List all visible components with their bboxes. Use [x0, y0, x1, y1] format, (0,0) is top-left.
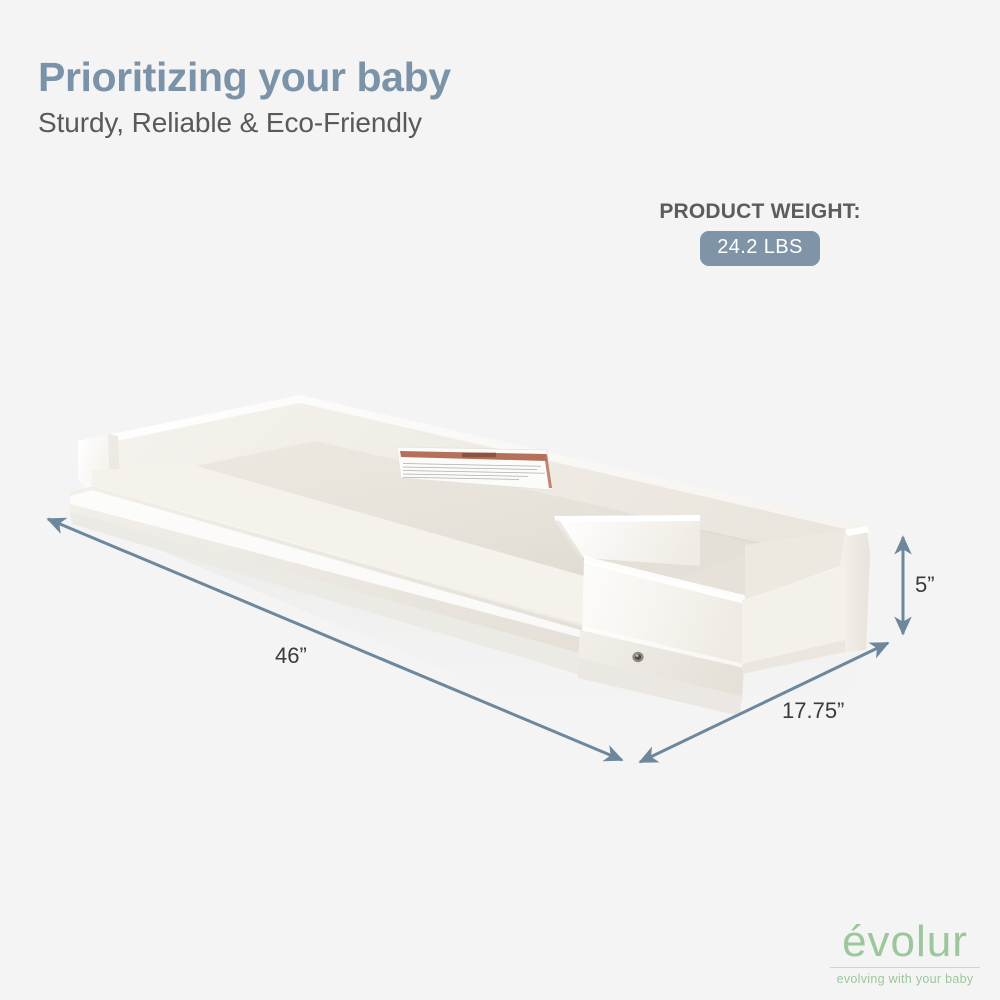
infographic-canvas: Prioritizing your baby Sturdy, Reliable …: [0, 0, 1000, 1000]
dimension-line-depth: [640, 643, 888, 762]
brand-tagline: evolving with your baby: [830, 972, 980, 986]
logo-divider: [830, 967, 980, 968]
dimension-line-width: [48, 519, 622, 760]
dimension-label-depth: 17.75”: [782, 698, 844, 724]
dimension-annotations: [0, 0, 1000, 1000]
dimension-label-width: 46”: [275, 643, 307, 669]
brand-logo: évolur evolving with your baby: [830, 920, 980, 986]
dimension-label-height: 5”: [915, 572, 935, 598]
brand-wordmark: évolur: [830, 920, 980, 964]
